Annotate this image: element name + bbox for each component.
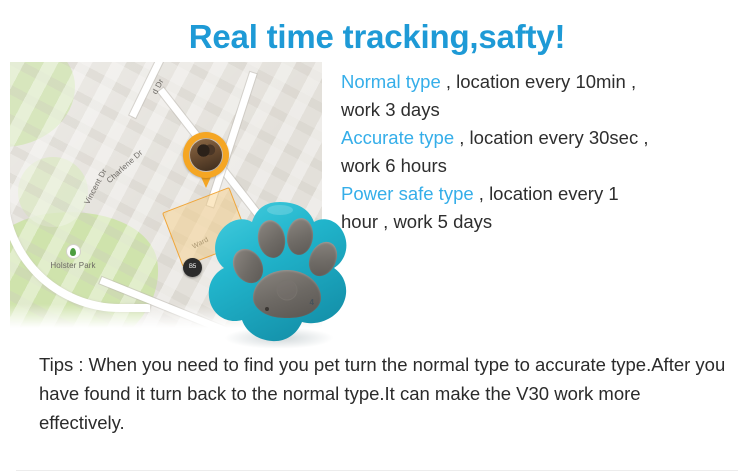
bottom-divider	[16, 470, 738, 471]
spec-detail2-normal: work 3 days	[341, 96, 745, 124]
product-feature-banner: Real time tracking,safty! d Dr Charlene …	[0, 0, 754, 475]
device-model-mark: 4	[310, 298, 314, 307]
map-park-marker[interactable]: Holster Park	[34, 244, 112, 270]
spec-mode-normal: Normal type	[341, 71, 441, 92]
pet-avatar	[189, 138, 223, 172]
spec-mode-powersafe: Power safe type	[341, 183, 474, 204]
paw-main-pad-button[interactable]: 4	[253, 270, 321, 318]
pet-location-pin[interactable]	[183, 132, 229, 190]
spec-detail-normal: , location every 10min ,	[441, 71, 636, 92]
spec-list: Normal type , location every 10min , wor…	[341, 68, 745, 236]
paw-gps-tracker: 4	[206, 196, 354, 351]
spec-mode-accurate: Accurate type	[341, 127, 454, 148]
spec-row-normal: Normal type , location every 10min ,	[341, 68, 745, 96]
page-title: Real time tracking,safty!	[0, 18, 754, 56]
spec-detail2-powersafe: hour , work 5 days	[341, 208, 745, 236]
tips-paragraph: Tips : When you need to find you pet tur…	[39, 350, 729, 437]
map-badge-marker[interactable]: B5	[183, 258, 202, 277]
spec-row-accurate: Accurate type , location every 30sec ,	[341, 124, 745, 152]
park-label: Holster Park	[34, 261, 112, 270]
spec-row-powersafe: Power safe type , location every 1	[341, 180, 745, 208]
spec-detail2-accurate: work 6 hours	[341, 152, 745, 180]
spec-detail-powersafe: , location every 1	[474, 183, 619, 204]
park-tree-icon	[66, 244, 81, 259]
spec-detail-accurate: , location every 30sec ,	[454, 127, 648, 148]
